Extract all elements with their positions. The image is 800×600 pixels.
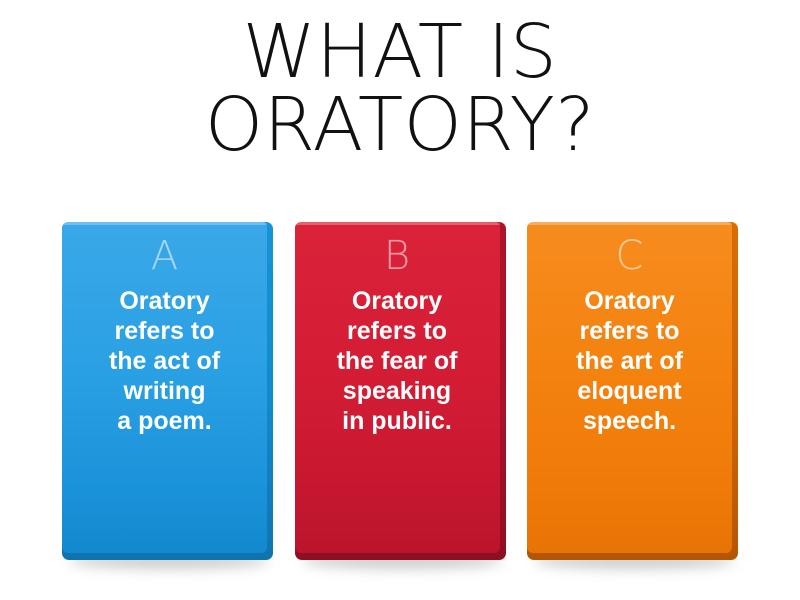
- answer-card-a[interactable]: A Oratory refers to the act of writing a…: [62, 222, 273, 560]
- answer-letter-c: C: [616, 236, 644, 276]
- answer-card-c[interactable]: C Oratory refers to the art of eloquent …: [527, 222, 738, 560]
- answer-text-c: Oratory refers to the art of eloquent sp…: [568, 286, 691, 436]
- answer-card-b[interactable]: B Oratory refers to the fear of speaking…: [295, 222, 506, 560]
- answer-card-b-face: B Oratory refers to the fear of speaking…: [295, 222, 500, 553]
- answer-letter-b: B: [384, 236, 410, 276]
- answer-letter-a: A: [151, 236, 178, 276]
- question-title: WHAT IS ORATORY?: [0, 16, 800, 163]
- answer-card-c-face: C Oratory refers to the art of eloquent …: [527, 222, 732, 553]
- answer-options-row: A Oratory refers to the act of writing a…: [62, 222, 738, 564]
- answer-text-b: Oratory refers to the fear of speaking i…: [329, 286, 466, 436]
- quiz-stage: WHAT IS ORATORY? A Oratory refers to the…: [0, 0, 800, 600]
- answer-card-a-face: A Oratory refers to the act of writing a…: [62, 222, 267, 553]
- answer-text-a: Oratory refers to the act of writing a p…: [101, 286, 228, 436]
